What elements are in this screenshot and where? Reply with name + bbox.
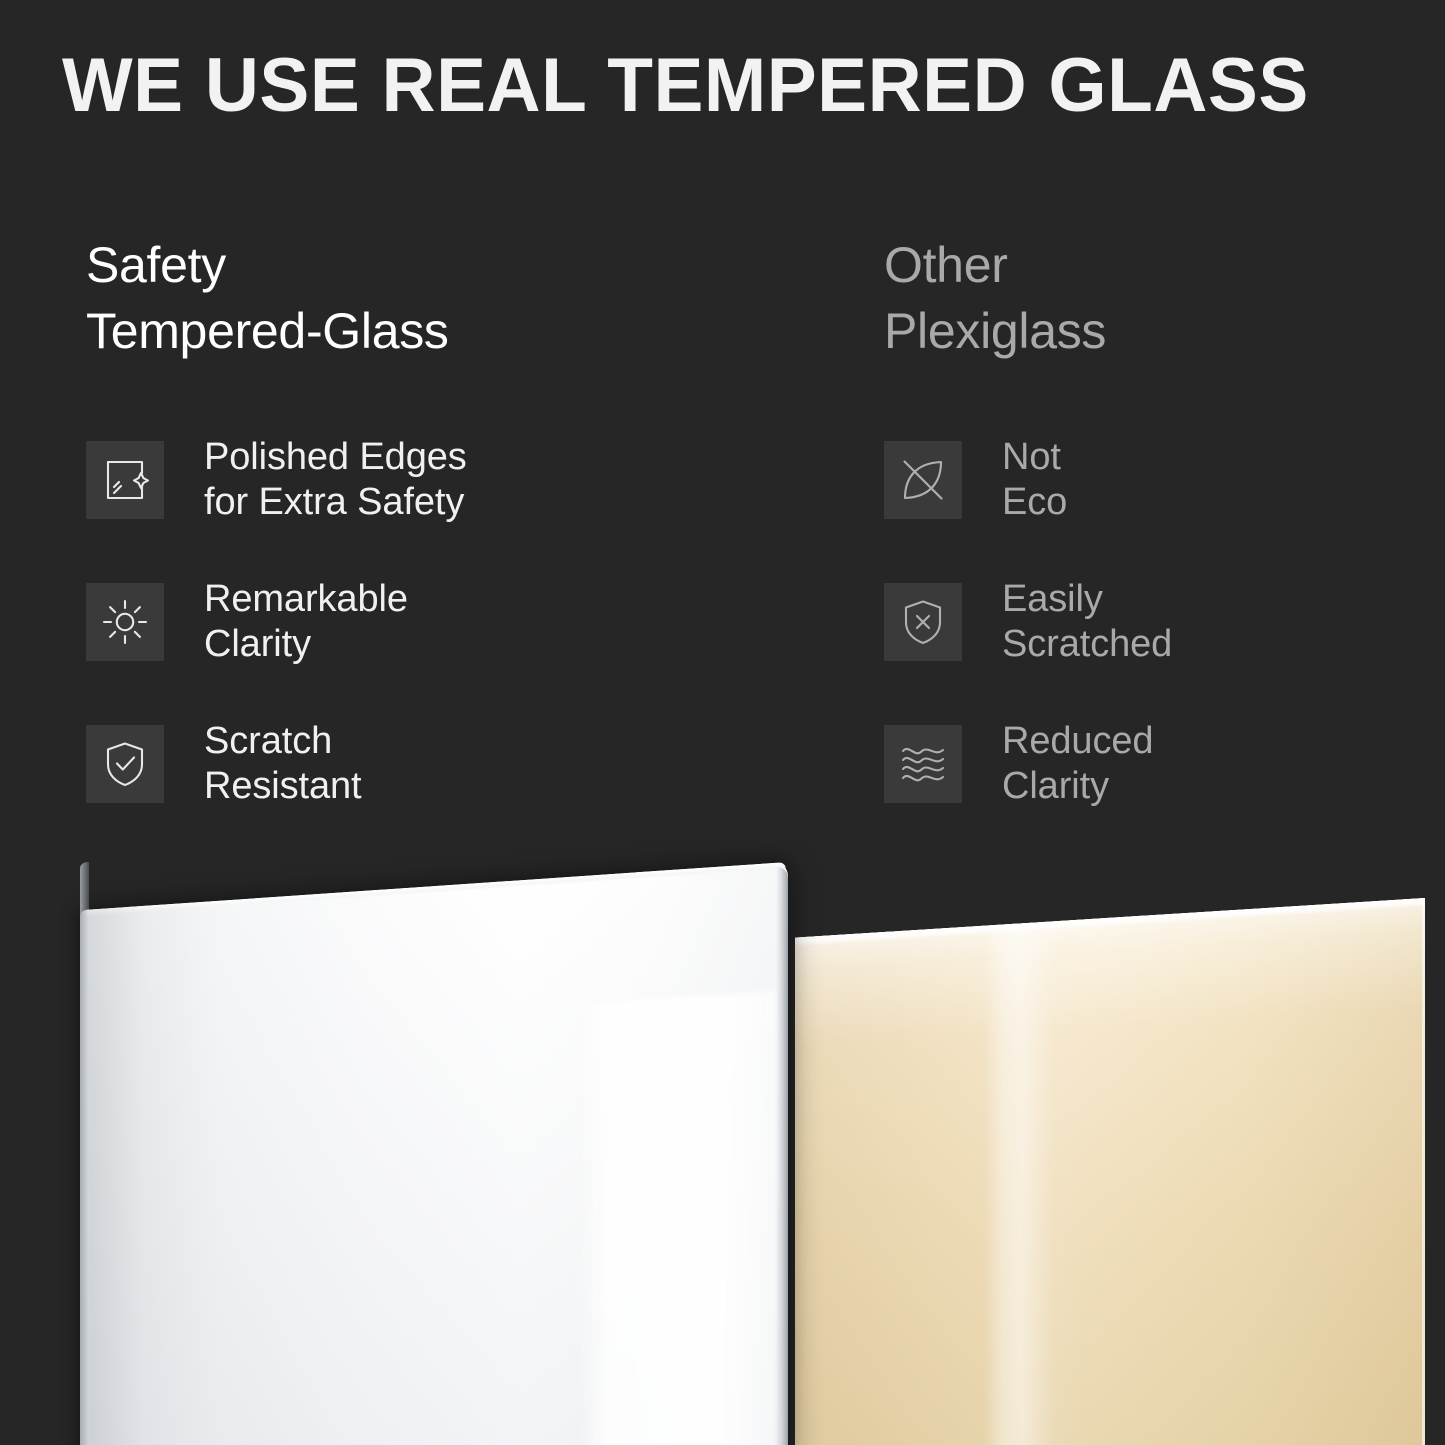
feature-label: Not Eco (1002, 435, 1067, 525)
feature-reduced-clarity: Reduced Clarity (884, 716, 1404, 812)
feature-polished-edges: Polished Edges for Extra Safety (86, 432, 806, 528)
polished-edge-sparkle-icon (86, 441, 164, 519)
feature-label: Polished Edges for Extra Safety (204, 435, 467, 525)
tempered-glass-panel (80, 862, 788, 1445)
shield-check-icon (86, 725, 164, 803)
column-plexiglass: Other Plexiglass Not Eco (884, 232, 1404, 364)
feature-label: Reduced Clarity (1002, 719, 1153, 809)
shield-x-icon (884, 583, 962, 661)
wavy-lines-icon (884, 725, 962, 803)
column-title-plexiglass: Other Plexiglass (884, 232, 1404, 364)
feature-label: Remarkable Clarity (204, 577, 408, 667)
feature-list-plexiglass: Not Eco Easily Scratched (884, 432, 1404, 812)
product-photo (0, 840, 1445, 1445)
page-title: WE USE REAL TEMPERED GLASS (62, 44, 1382, 128)
feature-not-eco: Not Eco (884, 432, 1404, 528)
column-title-tempered-glass: Safety Tempered-Glass (86, 232, 806, 364)
leaf-slashed-icon (884, 441, 962, 519)
column-tempered-glass: Safety Tempered-Glass Polished Edges for… (86, 232, 806, 364)
sun-brightness-icon (86, 583, 164, 661)
feature-label: Easily Scratched (1002, 577, 1172, 667)
tempered-glass-panel-left-edge (80, 862, 89, 1445)
product-infographic: WE USE REAL TEMPERED GLASS Safety Temper… (0, 0, 1445, 1445)
feature-easily-scratched: Easily Scratched (884, 574, 1404, 670)
feature-scratch-resistant: Scratch Resistant (86, 716, 806, 812)
feature-list-tempered-glass: Polished Edges for Extra Safety Remarkab… (86, 432, 806, 812)
feature-label: Scratch Resistant (204, 719, 362, 809)
plexiglass-panel (795, 898, 1425, 1445)
comparison-columns: Safety Tempered-Glass Polished Edges for… (0, 232, 1445, 852)
feature-remarkable-clarity: Remarkable Clarity (86, 574, 806, 670)
